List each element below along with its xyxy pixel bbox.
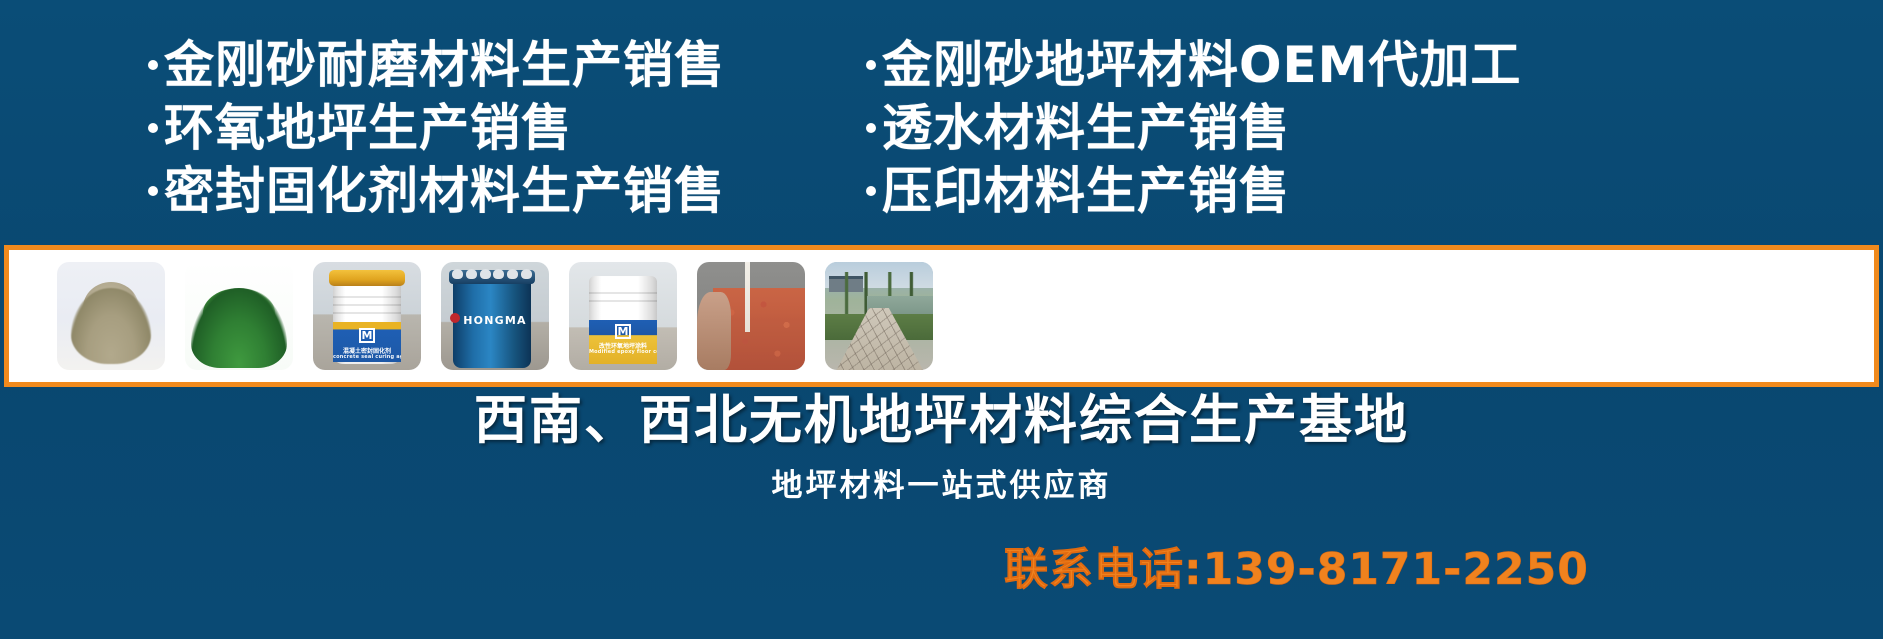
bullet-icon — [148, 60, 158, 70]
bucket-caption-en: Modified epoxy floor coating — [589, 349, 657, 355]
product-thumb-green-powder — [185, 262, 293, 370]
feature-label: 金刚砂地坪材料OEM代加工 — [882, 34, 1521, 97]
feature-label: 压印材料生产销售 — [882, 160, 1290, 223]
feature-item: 压印材料生产销售 — [866, 160, 1521, 223]
feature-label: 密封固化剂材料生产销售 — [164, 160, 725, 223]
contact-phone[interactable]: 联系电话:139-8171-2250 — [1004, 533, 1589, 597]
brand-m-logo: M — [615, 324, 631, 339]
bucket-caption-en: concrete seal curing agent — [333, 354, 401, 360]
bullet-icon — [866, 186, 876, 196]
feature-column-right: 金刚砂地坪材料OEM代加工 透水材料生产销售 压印材料生产销售 — [866, 34, 1521, 223]
feature-item: 密封固化剂材料生产销售 — [148, 160, 725, 223]
product-image-strip: M 混凝土密封固化剂 concrete seal curing agent HO… — [4, 245, 1879, 387]
feature-column-left: 金刚砂耐磨材料生产销售 环氧地坪生产销售 密封固化剂材料生产销售 — [148, 34, 725, 223]
bullet-icon — [866, 60, 876, 70]
feature-item: 透水材料生产销售 — [866, 97, 1521, 160]
feature-lists: 金刚砂耐磨材料生产销售 环氧地坪生产销售 密封固化剂材料生产销售 金刚砂地坪材料… — [0, 34, 1883, 234]
footer-tagline: 地坪材料一站式供应商 — [0, 460, 1883, 505]
feature-label: 金刚砂耐磨材料生产销售 — [164, 34, 725, 97]
product-thumb-emery-powder — [57, 262, 165, 370]
bullet-icon — [148, 186, 158, 196]
hongma-brand-label: HONGMA — [441, 314, 549, 327]
footer-headline: 西南、西北无机地坪材料综合生产基地 — [0, 389, 1883, 453]
brand-m-logo: M — [359, 328, 375, 343]
product-thumb-hongma-drum: HONGMA — [441, 262, 549, 370]
feature-item: 环氧地坪生产销售 — [148, 97, 725, 160]
feature-label: 透水材料生产销售 — [882, 97, 1290, 160]
product-thumb-red-permeable-paving — [697, 262, 805, 370]
product-thumb-stamped-walkway — [825, 262, 933, 370]
bullet-icon — [148, 123, 158, 133]
feature-label: 环氧地坪生产销售 — [164, 97, 572, 160]
promo-banner: 金刚砂耐磨材料生产销售 环氧地坪生产销售 密封固化剂材料生产销售 金刚砂地坪材料… — [0, 0, 1883, 639]
feature-item: 金刚砂耐磨材料生产销售 — [148, 34, 725, 97]
bullet-icon — [866, 123, 876, 133]
product-thumb-concrete-sealer-bucket: M 混凝土密封固化剂 concrete seal curing agent — [313, 262, 421, 370]
feature-item: 金刚砂地坪材料OEM代加工 — [866, 34, 1521, 97]
product-thumb-epoxy-coating-bucket: M 改性环氧地坪涂料 Modified epoxy floor coating — [569, 262, 677, 370]
